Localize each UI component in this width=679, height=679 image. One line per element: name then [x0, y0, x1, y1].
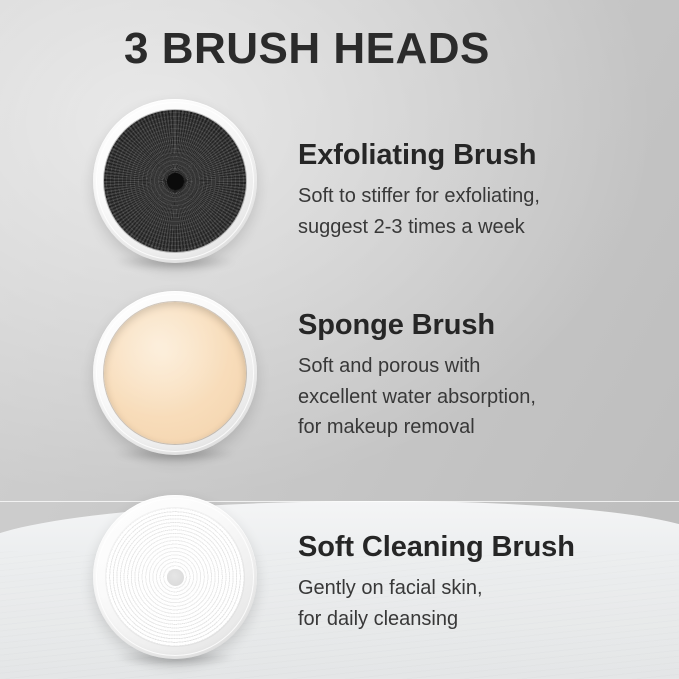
brush-head-soft-cleaning-image — [93, 495, 257, 659]
brush-heading: Soft Cleaning Brush — [298, 530, 668, 564]
page-title: 3 BRUSH HEADS — [124, 24, 490, 75]
soft-bristle-pad — [106, 508, 244, 646]
brush-text-sponge: Sponge Brush Soft and porous with excell… — [298, 308, 668, 442]
brush-housing-ring — [93, 495, 257, 659]
bristle-edge-scallop — [104, 110, 246, 252]
description-line: excellent water absorption, — [298, 382, 668, 412]
brush-item-soft-cleaning: Soft Cleaning Brush Gently on facial ski… — [0, 492, 679, 667]
brush-description: Soft and porous with excellent water abs… — [298, 351, 668, 442]
brush-item-exfoliating: Exfoliating Brush Soft to stiffer for ex… — [0, 96, 679, 271]
brush-housing-ring — [93, 99, 257, 263]
brush-description: Soft to stiffer for exfoliating, suggest… — [298, 181, 668, 242]
center-hole-icon — [167, 173, 184, 190]
brush-heading: Exfoliating Brush — [298, 138, 668, 172]
brush-text-soft-cleaning: Soft Cleaning Brush Gently on facial ski… — [298, 530, 668, 634]
description-line: Gently on facial skin, — [298, 573, 668, 603]
description-line: Soft to stiffer for exfoliating, — [298, 181, 668, 211]
brush-head-sponge-image — [93, 291, 257, 455]
sponge-pad — [104, 302, 246, 444]
product-infographic: 3 BRUSH HEADS Exfoliating Brush Soft to … — [0, 0, 679, 679]
brush-head-exfoliating-image — [93, 99, 257, 263]
brush-description: Gently on facial skin, for daily cleansi… — [298, 573, 668, 634]
soft-bristle-texture — [106, 508, 244, 646]
brush-heading: Sponge Brush — [298, 308, 668, 342]
description-line: Soft and porous with — [298, 351, 668, 381]
exfoliating-bristle-pad — [104, 110, 246, 252]
soft-edge-scallop — [106, 508, 244, 646]
bristle-texture — [104, 110, 246, 252]
brush-item-sponge: Sponge Brush Soft and porous with excell… — [0, 288, 679, 463]
center-cap-icon — [167, 569, 184, 586]
brush-text-exfoliating: Exfoliating Brush Soft to stiffer for ex… — [298, 138, 668, 242]
description-line: for daily cleansing — [298, 604, 668, 634]
brush-housing-ring — [93, 291, 257, 455]
description-line: suggest 2-3 times a week — [298, 212, 668, 242]
description-line: for makeup removal — [298, 412, 668, 442]
